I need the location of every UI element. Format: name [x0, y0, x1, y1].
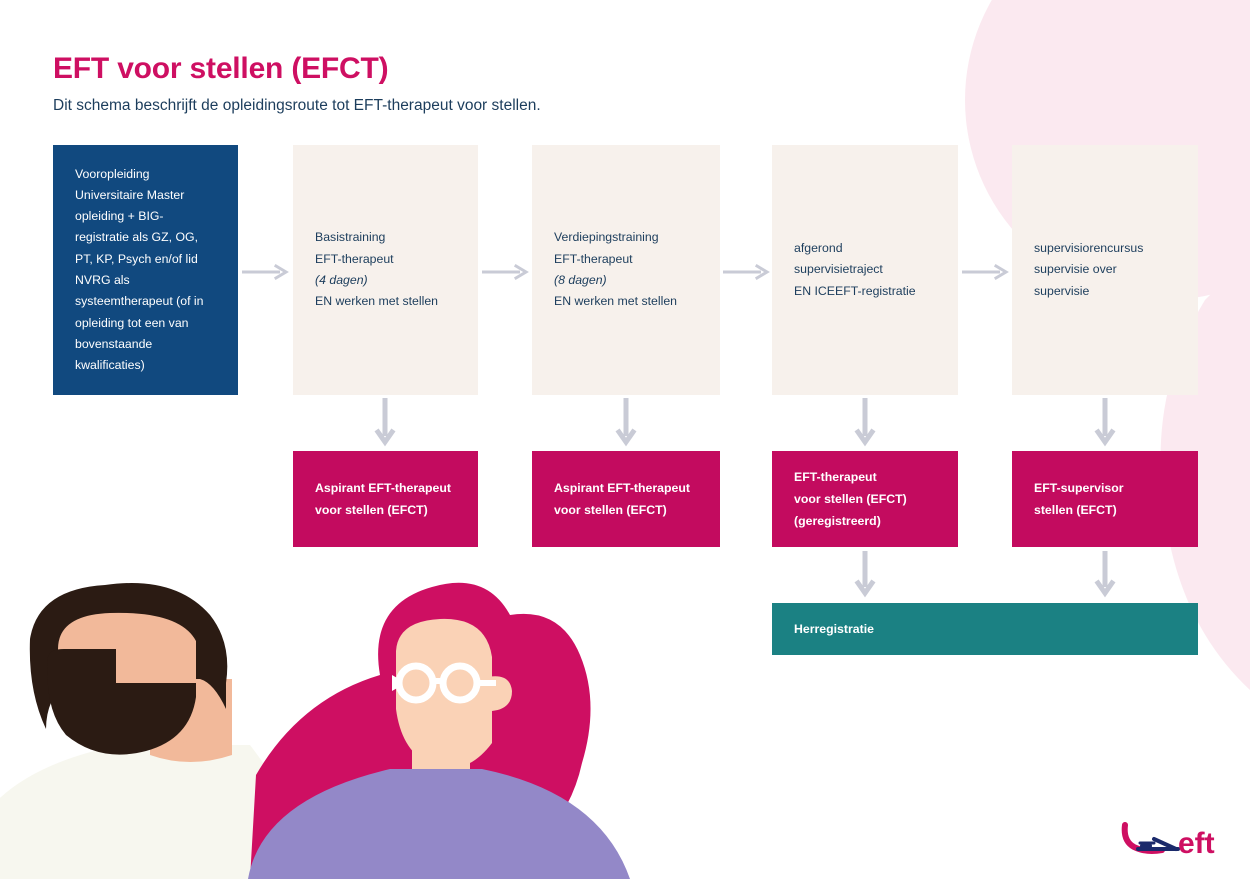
result-line: EFT-therapeut: [794, 466, 936, 488]
herregistratie-label: Herregistratie: [794, 622, 874, 636]
result-line: Aspirant EFT-therapeut: [554, 477, 698, 499]
result-line: voor stellen (EFCT): [794, 488, 936, 510]
stage-line: Vooropleiding Universitaire Master oplei…: [75, 164, 216, 377]
logo-wordmark: eft: [1178, 827, 1215, 860]
stage-line: supervisie: [1034, 281, 1176, 302]
stage-line: EFT-therapeut: [554, 249, 698, 270]
logo-figure: [1138, 839, 1178, 850]
stage-line-duration: (8 dagen): [554, 270, 698, 291]
eft-logo: eft: [1120, 819, 1228, 866]
result-line: Aspirant EFT-therapeut: [315, 477, 456, 499]
result-line: (geregistreerd): [794, 510, 936, 532]
result-box-aspirant-2[interactable]: Aspirant EFT-therapeut voor stellen (EFC…: [532, 451, 720, 547]
stage-line: Verdiepingstraining: [554, 227, 698, 248]
result-box-eft-therapeut-geregistreerd[interactable]: EFT-therapeut voor stellen (EFCT) (gereg…: [772, 451, 958, 547]
stage-line: EFT-therapeut: [315, 249, 456, 270]
stage-box-basistraining[interactable]: Basistraining EFT-therapeut (4 dagen) EN…: [293, 145, 478, 395]
arrow-down-icon: [854, 549, 876, 603]
arrow-down-icon: [1094, 396, 1116, 452]
result-box-herregistratie[interactable]: Herregistratie: [772, 603, 1198, 655]
stage-line: Basistraining: [315, 227, 456, 248]
arrow-down-icon: [1094, 549, 1116, 603]
arrow-down-icon: [854, 396, 876, 452]
result-line: stellen (EFCT): [1034, 499, 1176, 521]
stage-line: EN werken met stellen: [315, 291, 456, 312]
result-box-aspirant-1[interactable]: Aspirant EFT-therapeut voor stellen (EFC…: [293, 451, 478, 547]
eft-logo-svg: eft: [1120, 819, 1228, 861]
arrow-down-icon: [374, 396, 396, 452]
result-line: EFT-supervisor: [1034, 477, 1176, 499]
stage-line-duration: (4 dagen): [315, 270, 456, 291]
result-line: voor stellen (EFCT): [315, 499, 456, 521]
result-box-eft-supervisor[interactable]: EFT-supervisor stellen (EFCT): [1012, 451, 1198, 547]
result-line: voor stellen (EFCT): [554, 499, 698, 521]
stage-line: EN werken met stellen: [554, 291, 698, 312]
stage-line: supervisie over: [1034, 259, 1176, 280]
stage-line: afgerond: [794, 238, 936, 259]
stage-line: supervisiorencursus: [1034, 238, 1176, 259]
arrow-right-icon: [240, 262, 294, 282]
arrow-right-icon: [721, 262, 775, 282]
stage-box-verdiepingstraining[interactable]: Verdiepingstraining EFT-therapeut (8 dag…: [532, 145, 720, 395]
stage-line: EN ICEEFT-registratie: [794, 281, 936, 302]
arrow-right-icon: [480, 262, 534, 282]
stage-box-vooropleiding[interactable]: Vooropleiding Universitaire Master oplei…: [53, 145, 238, 395]
flow-chart: Vooropleiding Universitaire Master oplei…: [0, 0, 1250, 884]
arrow-down-icon: [615, 396, 637, 452]
stage-box-supervisiorencursus[interactable]: supervisiorencursus supervisie over supe…: [1012, 145, 1198, 395]
stage-line: supervisietraject: [794, 259, 936, 280]
stage-box-supervisietraject[interactable]: afgerond supervisietraject EN ICEEFT-reg…: [772, 145, 958, 395]
arrow-right-icon: [960, 262, 1014, 282]
